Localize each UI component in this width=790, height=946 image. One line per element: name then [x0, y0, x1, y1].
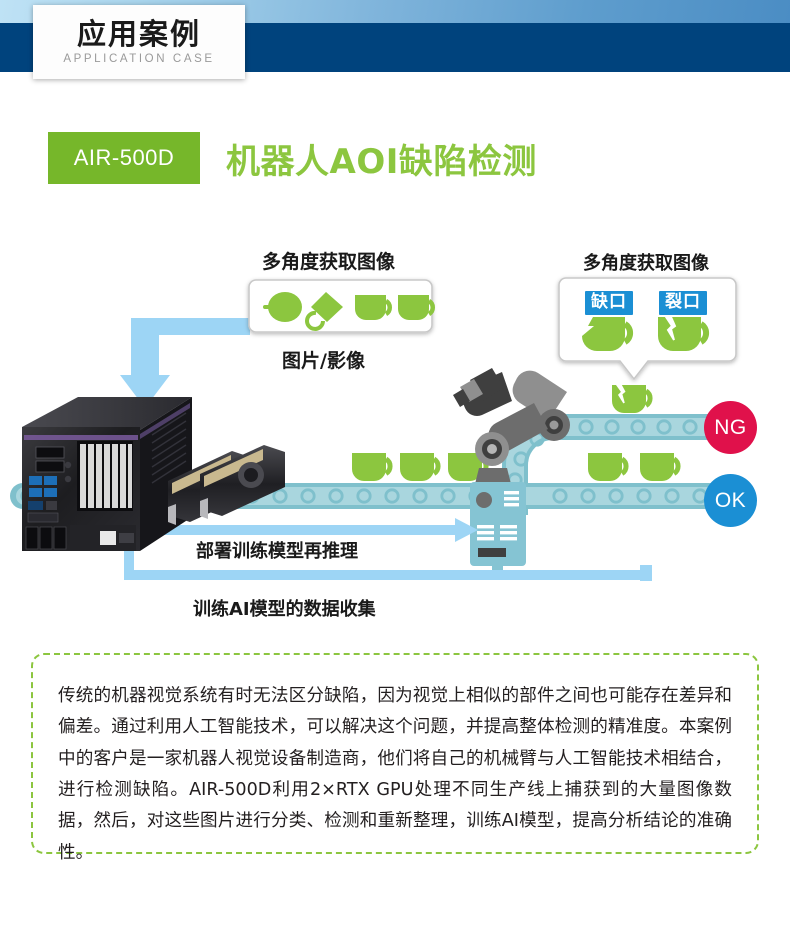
model-badge: AIR-500D	[48, 132, 200, 184]
label-multi-angle-right: 多角度获取图像	[583, 249, 709, 275]
sample-image-box	[249, 280, 433, 332]
status-badge-ng: NG	[704, 401, 757, 454]
cup-on-lower-belt	[400, 453, 438, 481]
server-chassis	[22, 397, 192, 551]
application-case-card: 应用案例 APPLICATION CASE	[33, 5, 245, 79]
server-drive-bays	[26, 527, 66, 549]
defect-tag-crack: 裂口	[659, 291, 707, 315]
label-photo-video: 图片/影像	[282, 346, 365, 373]
label-collect-flow: 训练AI模型的数据收集	[193, 595, 376, 621]
workflow-diagram-svg	[0, 225, 790, 635]
server-expansion-slots	[77, 441, 133, 511]
title-row: AIR-500D 机器人AOI缺陷检测	[48, 132, 537, 184]
application-case-title-cn: 应用案例	[77, 19, 201, 49]
description-box: 传统的机器视觉系统有时无法区分缺陷，因为视觉上相似的部件之间也可能存在差异和偏差…	[31, 653, 759, 854]
label-multi-angle-left: 多角度获取图像	[262, 247, 395, 274]
defect-tag-chip: 缺口	[585, 291, 633, 315]
inspection-station	[470, 482, 526, 574]
label-deploy-flow: 部署训练模型再推理	[196, 537, 358, 563]
workflow-diagram	[0, 225, 790, 635]
cup-on-lower-belt	[588, 453, 626, 481]
header-banner: 应用案例 APPLICATION CASE	[0, 0, 790, 72]
description-text: 传统的机器视觉系统有时无法区分缺陷，因为视觉上相似的部件之间也可能存在差异和偏差…	[58, 681, 732, 869]
cup-on-upper-belt	[612, 385, 650, 413]
arrow-images-to-server	[120, 318, 250, 408]
application-case-title-en: APPLICATION CASE	[63, 53, 214, 65]
status-badge-ok: OK	[704, 474, 757, 527]
cup-on-lower-belt	[352, 453, 390, 481]
page-title: 机器人AOI缺陷检测	[226, 134, 537, 183]
cup-on-lower-belt	[640, 453, 678, 481]
